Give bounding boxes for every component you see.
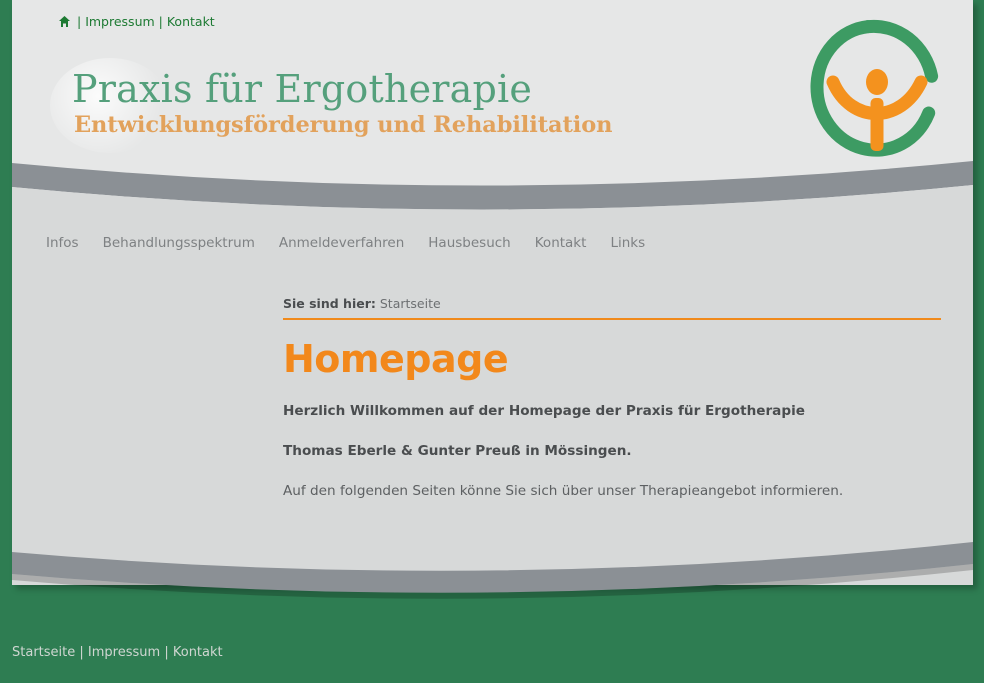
page-title: Homepage <box>283 338 941 380</box>
top-link-kontakt[interactable]: Kontakt <box>167 14 215 29</box>
site-logotype[interactable]: Praxis für Ergotherapie Entwicklungsförd… <box>72 66 612 140</box>
logo-title: Praxis für Ergotherapie <box>72 66 612 112</box>
nav-item-links[interactable]: Links <box>610 232 645 254</box>
nav-item-hausbesuch[interactable]: Hausbesuch <box>428 232 510 254</box>
footer-link-kontakt[interactable]: Kontakt <box>173 645 223 660</box>
contact-text-before: Sollten Sie Fragen haben, könne Sie gern… <box>283 523 716 539</box>
breadcrumb: Sie sind hier: Startseite <box>283 296 941 320</box>
content-panel: | Impressum | Kontakt Praxis für Ergothe… <box>12 0 973 585</box>
top-link-separator-2: | <box>159 14 163 29</box>
main-content: Sie sind hier: Startseite Homepage Herzl… <box>283 296 941 572</box>
footer-link-startseite[interactable]: Startseite <box>12 645 75 660</box>
breadcrumb-current[interactable]: Startseite <box>380 296 441 311</box>
mail-link[interactable]: Mail <box>716 523 748 539</box>
logo-subtitle: Entwicklungsförderung und Rehabilitation <box>74 110 612 140</box>
page-background: | Impressum | Kontakt Praxis für Ergothe… <box>0 0 984 683</box>
welcome-line-2: Thomas Eberle & Gunter Preuß in Mössinge… <box>283 442 941 460</box>
nav-item-kontakt[interactable]: Kontakt <box>535 232 587 254</box>
footer-separator-1: | <box>79 645 83 660</box>
nav-item-anmeldeverfahren[interactable]: Anmeldeverfahren <box>279 232 404 254</box>
home-icon <box>58 15 71 33</box>
top-link-separator-1: | <box>77 14 81 29</box>
intro-paragraph: Auf den folgenden Seiten könne Sie sich … <box>283 482 941 500</box>
footer-links: Startseite | Impressum | Kontakt <box>12 644 223 662</box>
top-utility-links: | Impressum | Kontakt <box>58 13 215 33</box>
breadcrumb-label: Sie sind hier: <box>283 296 376 311</box>
circle-person-logo-icon <box>803 12 951 172</box>
nav-item-behandlungsspektrum[interactable]: Behandlungsspektrum <box>103 232 255 254</box>
footer-separator-2: | <box>164 645 168 660</box>
top-link-impressum[interactable]: Impressum <box>85 14 154 29</box>
top-link-home[interactable] <box>58 14 77 29</box>
main-navigation: InfosBehandlungsspektrumAnmeldeverfahren… <box>12 232 973 256</box>
contact-paragraph: Sollten Sie Fragen haben, könne Sie gern… <box>283 522 941 558</box>
footer-link-impressum[interactable]: Impressum <box>88 645 160 660</box>
welcome-line-1: Herzlich Willkommen auf der Homepage der… <box>283 402 941 420</box>
nav-item-infos[interactable]: Infos <box>46 232 79 254</box>
